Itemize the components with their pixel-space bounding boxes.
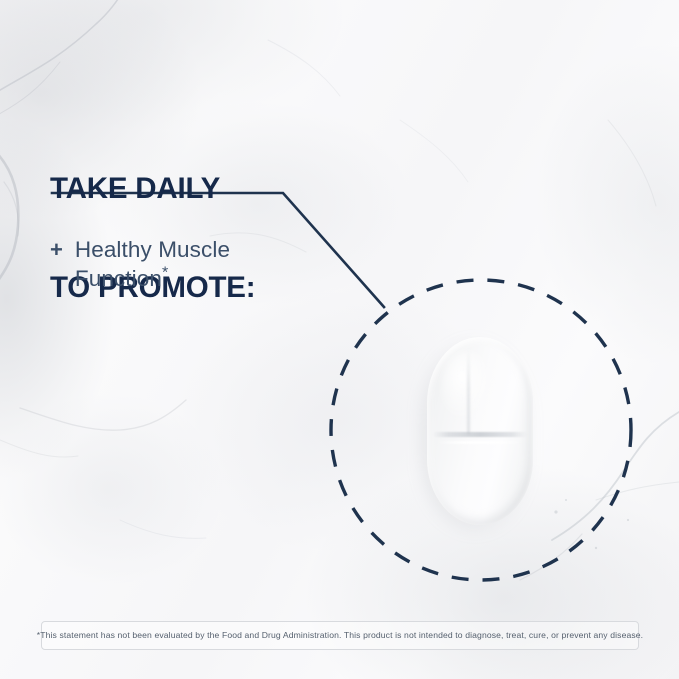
product-infographic: TAKE DAILY TO PROMOTE: + Healthy Muscle … [0, 0, 679, 679]
tablet-body [427, 337, 533, 525]
plus-icon: + [50, 235, 63, 264]
tablet-score-line [433, 432, 527, 437]
benefit-label-text: Healthy Muscle Function [75, 237, 230, 291]
tablet-seam [467, 349, 470, 435]
tablet-score-highlight [437, 441, 523, 444]
headline-line-1: TAKE DAILY [50, 172, 255, 205]
benefit-list: + Healthy Muscle Function* [50, 235, 310, 293]
list-item: + Healthy Muscle Function* [50, 235, 310, 293]
benefit-label: Healthy Muscle Function* [75, 235, 310, 293]
disclaimer-text: *This statement has not been evaluated b… [37, 630, 643, 641]
asterisk-marker: * [162, 265, 168, 282]
product-tablet [424, 334, 536, 528]
disclaimer-box: *This statement has not been evaluated b… [41, 621, 639, 650]
